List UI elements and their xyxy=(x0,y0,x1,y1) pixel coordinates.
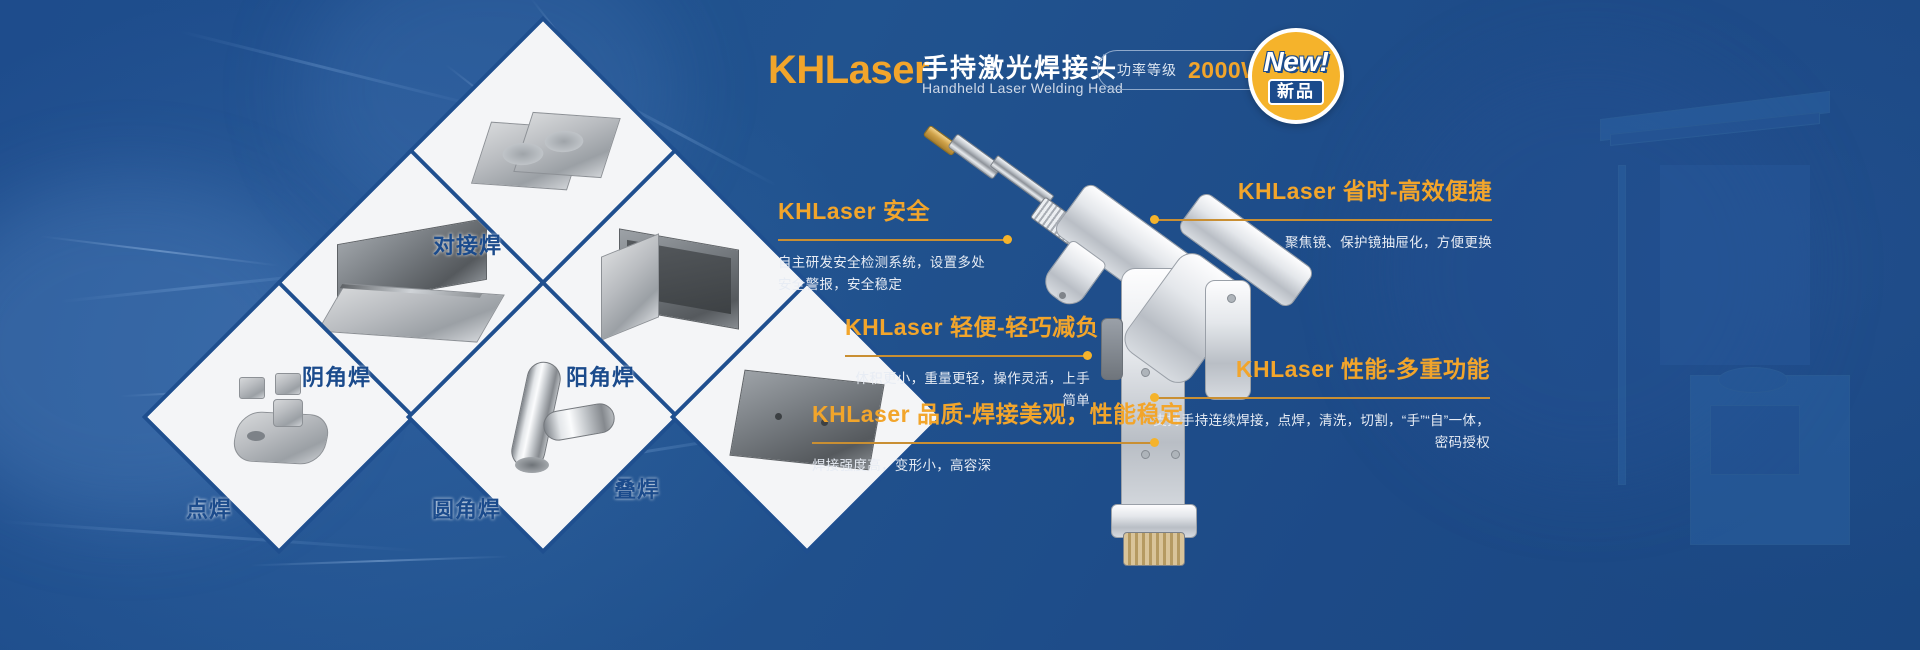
brand-logo: KHLaser xyxy=(768,48,929,93)
feature-performance: KHLaser 性能-多重功能 支持手持连续焊接，点焊，清洗，切割，“手”“自”… xyxy=(1152,350,1490,453)
feature-lightweight-heading: KHLaser 轻便-轻巧减负 xyxy=(845,308,1090,342)
feature-time-saving-rule xyxy=(1152,213,1492,227)
feature-quality-heading: KHLaser 品质-焊接美观，性能稳定 xyxy=(812,395,1157,429)
weld-type-diamond-grid: 对接焊 阴角焊 阳角焊 xyxy=(150,42,790,542)
feature-lightweight-rule xyxy=(845,349,1090,363)
new-badge-cn-plate: 新品 xyxy=(1268,79,1324,105)
feature-quality-desc: 焊接强度高，变形小，高容深 xyxy=(812,455,1157,477)
new-product-badge: New! 新品 xyxy=(1248,28,1344,124)
machine-silhouette xyxy=(1600,105,1900,625)
feature-safety-heading: KHLaser 安全 xyxy=(778,192,1008,226)
weld-label-butt: 对接焊 xyxy=(433,228,502,260)
feature-time-saving-heading: KHLaser 省时-高效便捷 xyxy=(1152,172,1492,206)
weld-label-lap: 叠焊 xyxy=(614,472,660,504)
weld-label-fillet: 圆角焊 xyxy=(432,492,501,524)
feature-safety: KHLaser 安全 自主研发安全检测系统，设置多处安全警报，安全稳定 xyxy=(778,192,1008,295)
power-rating-label: 功率等级 xyxy=(1117,60,1177,80)
feature-safety-desc: 自主研发安全检测系统，设置多处安全警报，安全稳定 xyxy=(778,252,994,295)
product-title-en: Handheld Laser Welding Head xyxy=(922,80,1123,96)
feature-performance-heading: KHLaser 性能-多重功能 xyxy=(1152,350,1490,384)
weld-label-outside-corner: 阳角焊 xyxy=(566,360,635,392)
feature-performance-desc: 支持手持连续焊接，点焊，清洗，切割，“手”“自”一体，密码授权 xyxy=(1152,410,1490,453)
feature-safety-rule xyxy=(778,233,1010,247)
feature-time-saving-desc: 聚焦镜、保护镜抽屉化，方便更换 xyxy=(1152,232,1492,254)
weld-label-inside-corner: 阴角焊 xyxy=(302,360,371,392)
weld-label-spot: 点焊 xyxy=(186,492,232,524)
feature-quality-rule xyxy=(812,436,1157,450)
feature-quality: KHLaser 品质-焊接美观，性能稳定 焊接强度高，变形小，高容深 xyxy=(812,395,1157,477)
feature-performance-rule xyxy=(1152,391,1490,405)
new-badge-cn-text: 新品 xyxy=(1277,83,1315,100)
new-badge-en-text: New! xyxy=(1264,48,1329,76)
promo-banner: 对接焊 阴角焊 阳角焊 xyxy=(0,0,1920,650)
feature-time-saving: KHLaser 省时-高效便捷 聚焦镜、保护镜抽屉化，方便更换 xyxy=(1152,172,1492,254)
